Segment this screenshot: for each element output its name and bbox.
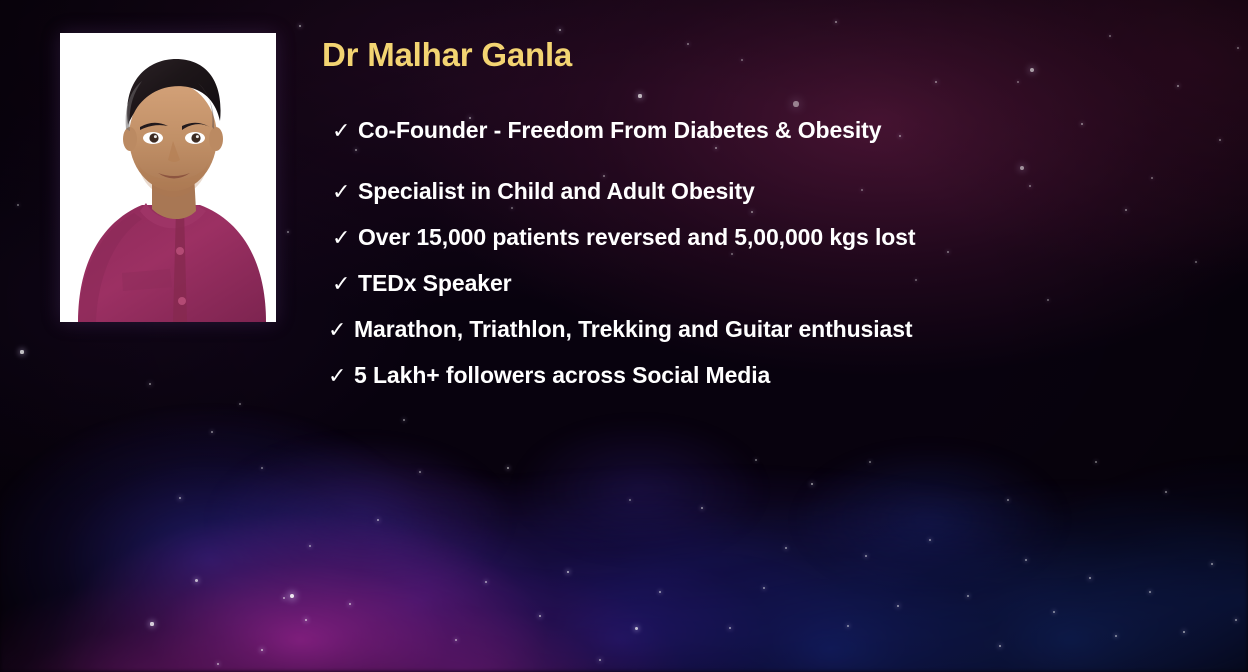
star: [1237, 47, 1239, 49]
star: [811, 483, 814, 486]
check-icon: ✓: [332, 273, 358, 295]
star: [349, 603, 352, 606]
star: [947, 251, 949, 253]
star: [1007, 499, 1009, 501]
list-item: ✓5 Lakh+ followers across Social Media: [328, 363, 770, 388]
star: [793, 101, 798, 106]
star: [635, 627, 638, 630]
list-item-label: Marathon, Triathlon, Trekking and Guitar…: [354, 317, 912, 342]
star: [1149, 591, 1151, 593]
star: [283, 597, 286, 600]
star: [1029, 185, 1031, 187]
star: [1095, 461, 1097, 463]
list-item-label: Specialist in Child and Adult Obesity: [358, 179, 755, 204]
page-title: Dr Malhar Ganla: [322, 36, 572, 74]
star: [897, 605, 900, 608]
star: [715, 147, 717, 149]
star: [355, 149, 357, 151]
star: [1177, 85, 1179, 87]
list-item: ✓Over 15,000 patients reversed and 5,00,…: [332, 225, 915, 250]
list-item: ✓Co-Founder - Freedom From Diabetes & Ob…: [332, 118, 881, 143]
star: [455, 639, 457, 641]
list-item: ✓Marathon, Triathlon, Trekking and Guita…: [328, 317, 912, 342]
star: [195, 579, 198, 582]
star: [419, 471, 421, 473]
star: [1125, 209, 1128, 212]
star: [741, 59, 743, 61]
star: [785, 547, 787, 549]
star: [915, 279, 917, 281]
check-icon: ✓: [332, 181, 358, 203]
presentation-slide: Dr Malhar Ganla ✓Co-Founder - Freedom Fr…: [0, 0, 1248, 672]
star: [403, 419, 405, 421]
star: [567, 571, 570, 574]
star: [179, 497, 182, 500]
star: [1219, 139, 1221, 141]
star: [1211, 563, 1213, 565]
star: [1053, 611, 1055, 613]
list-item-label: 5 Lakh+ followers across Social Media: [354, 363, 770, 388]
star: [599, 659, 602, 662]
star: [999, 645, 1002, 648]
star: [1151, 177, 1153, 179]
star: [1195, 261, 1197, 263]
list-item: ✓TEDx Speaker: [332, 271, 512, 296]
star: [261, 649, 264, 652]
star: [511, 207, 513, 209]
star: [17, 204, 19, 206]
star: [1089, 577, 1092, 580]
star: [763, 587, 765, 589]
star: [659, 591, 661, 593]
star: [217, 663, 219, 665]
star: [377, 519, 380, 522]
star: [149, 383, 152, 386]
check-icon: ✓: [332, 227, 358, 249]
star: [305, 619, 308, 622]
star: [755, 459, 757, 461]
star: [869, 461, 871, 463]
check-icon: ✓: [332, 120, 358, 142]
star: [929, 539, 931, 541]
portrait-photo: [60, 33, 276, 322]
star: [729, 627, 732, 630]
star: [261, 467, 263, 469]
star: [287, 231, 289, 233]
star: [847, 625, 849, 627]
star: [1030, 68, 1034, 72]
star: [731, 253, 733, 255]
star: [935, 81, 938, 84]
star: [1235, 619, 1237, 621]
star: [861, 189, 863, 191]
star: [1165, 491, 1167, 493]
star: [899, 135, 901, 137]
star: [559, 29, 562, 32]
star: [835, 21, 837, 23]
star: [1115, 635, 1117, 637]
star: [1183, 631, 1186, 634]
star: [629, 499, 631, 501]
star: [751, 211, 754, 214]
star: [865, 555, 867, 557]
star: [967, 595, 969, 597]
star: [150, 622, 153, 625]
star: [1109, 35, 1111, 37]
star: [507, 467, 509, 469]
star: [687, 43, 689, 45]
star: [211, 431, 213, 433]
check-icon: ✓: [328, 319, 354, 341]
list-item: ✓Specialist in Child and Adult Obesity: [332, 179, 755, 204]
star: [1025, 559, 1027, 561]
star: [603, 175, 605, 177]
star: [485, 581, 487, 583]
star: [539, 615, 542, 618]
list-item-label: Over 15,000 patients reversed and 5,00,0…: [358, 225, 915, 250]
star: [309, 545, 311, 547]
star: [299, 25, 301, 27]
star: [638, 94, 641, 97]
star: [1017, 81, 1019, 83]
portrait-illustration: [60, 33, 276, 322]
list-item-label: Co-Founder - Freedom From Diabetes & Obe…: [358, 118, 881, 143]
star: [1081, 123, 1083, 125]
star: [20, 350, 23, 353]
list-item-label: TEDx Speaker: [358, 271, 512, 296]
star: [290, 594, 294, 598]
star: [701, 507, 703, 509]
check-icon: ✓: [328, 365, 354, 387]
star: [239, 403, 241, 405]
star: [1047, 299, 1049, 301]
star: [1020, 166, 1024, 170]
